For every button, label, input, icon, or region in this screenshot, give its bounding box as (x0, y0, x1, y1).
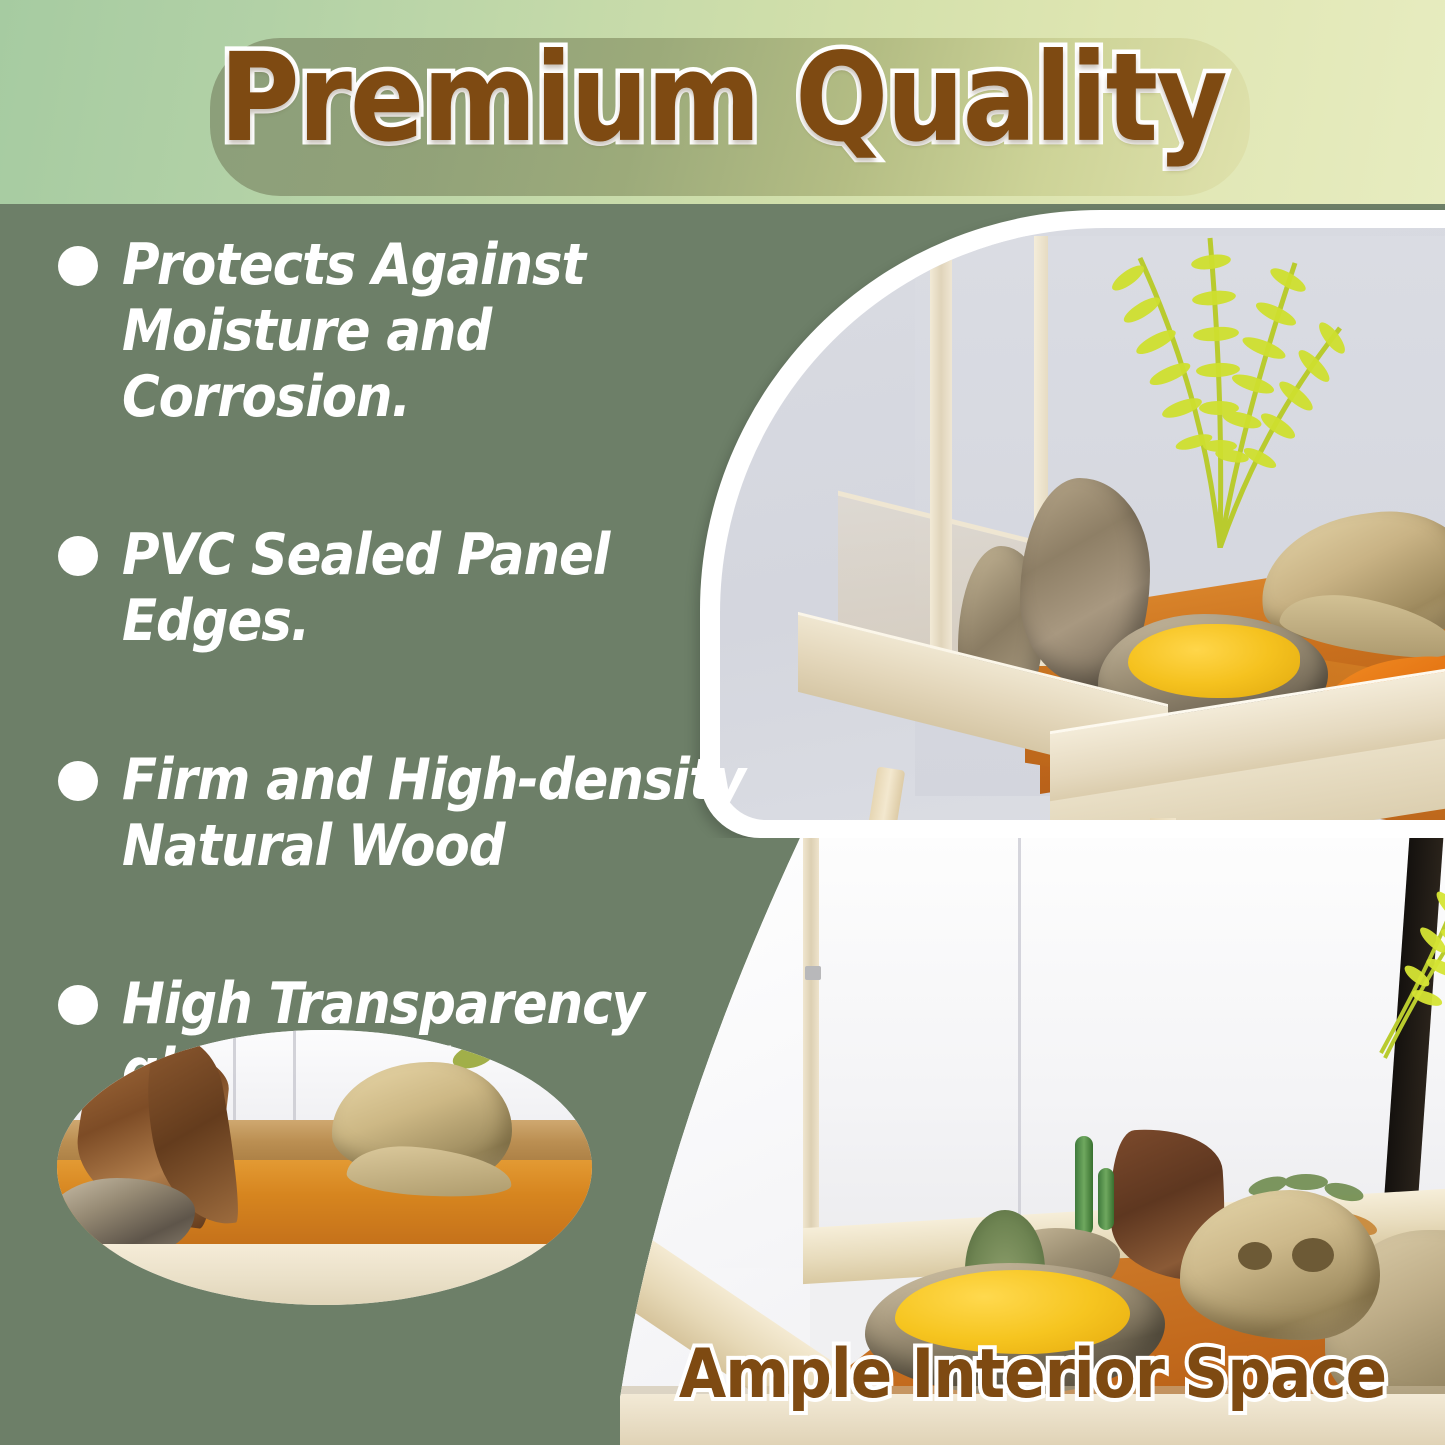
bullet-dot-icon (58, 761, 98, 801)
glass-seam-1 (1018, 838, 1021, 1268)
caption-ample-interior-space: Ample Interior Space (620, 1335, 1445, 1414)
cactus-arm (1098, 1168, 1114, 1230)
list-item: Firm and High-density Natural Wood (58, 747, 818, 879)
glass-seam-1 (233, 1030, 236, 1126)
feature-label: Protects Against Moisture and Corrosion. (122, 232, 782, 430)
cabinet-leg-left (863, 766, 906, 820)
cactus-decor (1075, 1136, 1093, 1236)
wood-frame-vertical (930, 236, 952, 706)
bullet-dot-icon (58, 985, 98, 1025)
photo-terrarium-detail-oval (57, 1030, 592, 1305)
list-item: Protects Against Moisture and Corrosion. (58, 232, 818, 430)
glass-seam-2 (293, 1030, 296, 1126)
photo-top-inner (720, 228, 1445, 820)
bullet-dot-icon (58, 536, 98, 576)
feature-list: Protects Against Moisture and Corrosion.… (58, 232, 818, 1103)
cabinet-leg-right (1150, 818, 1176, 820)
list-item: PVC Sealed Panel Edges. (58, 522, 818, 654)
food-bowl-yellow-basin (1128, 624, 1300, 698)
fern-plant-icon (1375, 838, 1445, 1068)
skull-eye-socket-right (1292, 1238, 1334, 1272)
bullet-dot-icon (58, 246, 98, 286)
page-title: Premium Quality (0, 34, 1445, 162)
skull-eye-socket-left (1238, 1242, 1272, 1270)
wood-base-bar (57, 1244, 592, 1305)
feature-label: Firm and High-density Natural Wood (122, 747, 782, 879)
feature-label: PVC Sealed Panel Edges. (122, 522, 782, 654)
infographic-canvas: Premium Quality (0, 0, 1445, 1445)
